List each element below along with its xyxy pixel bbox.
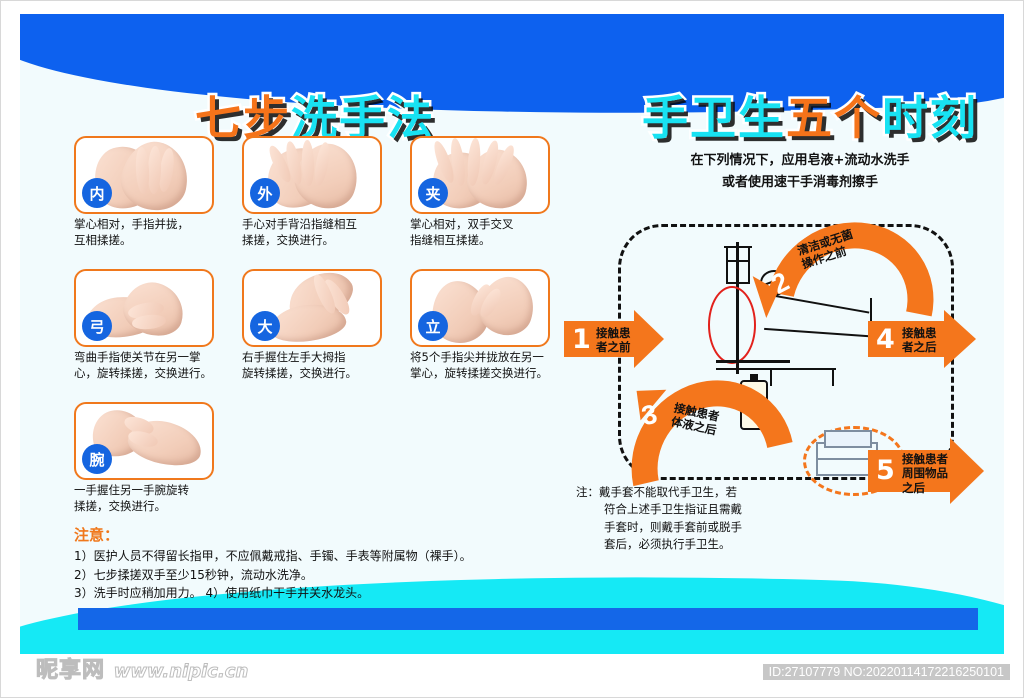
gloves-note-line-3: 手套时，则戴手套前或脱手 [576, 519, 876, 536]
step-badge-1: 内 [82, 178, 112, 208]
step-card-6: 立 将5个手指尖并拢放在另一 掌心，旋转揉搓交换进行。 [410, 269, 552, 381]
moment-label-5: 接触患者 周围物品 之后 [902, 452, 948, 495]
id-tag: ID:27107779 NO:20220114172216250101 [763, 664, 1010, 680]
step-photo-4: 弓 [74, 269, 214, 347]
notice-block: 注意： 1）医护人员不得留长指甲，不应佩戴戒指、手镯、手表等附属物（裸手）。 2… [74, 524, 594, 603]
moments-subtitle-line-1: 在下列情况下，应用皂液+流动水洗手 [620, 150, 980, 172]
step-badge-5: 大 [250, 311, 280, 341]
step-photo-3: 夹 [410, 136, 550, 214]
step-caption-7: 一手握住另一手腕旋转 揉搓，交换进行。 [74, 483, 216, 514]
watermark-logo-text: 昵享网 [36, 658, 105, 683]
step-card-3: 夹 掌心相对，双手交叉 指缝相互揉搓。 [410, 136, 552, 248]
step-card-5: 大 右手握住左手大拇指 旋转揉搓，交换进行。 [242, 269, 384, 381]
gloves-note-line-1: 注：戴手套不能取代手卫生，若 [576, 484, 876, 501]
moment-arrow-3: 3 接触患者 体液之后 [628, 384, 746, 458]
gloves-note: 注：戴手套不能取代手卫生，若 符合上述手卫生指证且需戴 手套时，则戴手套前或脱手… [576, 484, 876, 553]
step-photo-5: 大 [242, 269, 382, 347]
watermark-url: www.nipic.cn [114, 661, 249, 682]
step-caption-2: 手心对手背沿指缝相互 揉搓，交换进行。 [242, 217, 384, 248]
gloves-note-line-2: 符合上述手卫生指证且需戴 [576, 501, 876, 518]
moment-arrow-4: 4 接触患 者之后 [868, 310, 986, 368]
notice-line-2: 2）七步揉搓双手至少15秒钟，流动水洗净。 [74, 566, 594, 585]
step-card-1: 内 掌心相对，手指并拢， 互相揉搓。 [74, 136, 216, 248]
step-badge-3: 夹 [418, 178, 448, 208]
moment-number-4: 4 [876, 326, 895, 353]
step-caption-5: 右手握住左手大拇指 旋转揉搓，交换进行。 [242, 350, 384, 381]
gloves-note-line-4: 套后，必须执行手卫生。 [576, 536, 876, 553]
step-card-2: 外 手心对手背沿指缝相互 揉搓，交换进行。 [242, 136, 384, 248]
step-badge-2: 外 [250, 178, 280, 208]
moments-subtitle: 在下列情况下，应用皂液+流动水洗手 或者使用速干手消毒剂擦手 [620, 150, 980, 194]
step-photo-6: 立 [410, 269, 550, 347]
watermark: 昵享网 www.nipic.cn [36, 652, 248, 684]
step-caption-3: 掌心相对，双手交叉 指缝相互揉搓。 [410, 217, 552, 248]
step-caption-1: 掌心相对，手指并拢， 互相揉搓。 [74, 217, 216, 248]
step-card-7: 腕 一手握住另一手腕旋转 揉搓，交换进行。 [74, 402, 216, 514]
notice-line-3: 3）洗手时应稍加用力。 4）使用纸巾干手并关水龙头。 [74, 584, 594, 603]
step-caption-4: 弯曲手指使关节在另一掌 心，旋转揉搓，交换进行。 [74, 350, 216, 381]
moment-arrow-2: 2 清洁或无菌 操作之前 [765, 224, 883, 298]
five-moments-panel: 在下列情况下，应用皂液+流动水洗手 或者使用速干手消毒剂擦手 [560, 132, 1004, 552]
step-photo-7: 腕 [74, 402, 214, 480]
moment-label-1: 接触患 者之前 [596, 326, 631, 355]
step-photo-1: 内 [74, 136, 214, 214]
step-card-4: 弓 弯曲手指使关节在另一掌 心，旋转揉搓，交换进行。 [74, 269, 216, 381]
step-badge-7: 腕 [82, 444, 112, 474]
notice-title: 注意： [74, 524, 594, 545]
moment-arrow-5: 5 接触患者 周围物品 之后 [868, 438, 998, 504]
step-badge-6: 立 [418, 311, 448, 341]
moment-number-5: 5 [876, 457, 895, 484]
moment-arrow-1: 1 接触患 者之前 [564, 310, 672, 368]
poster-root: 七步洗手法 手卫生五个时刻 内 掌心相对，手指并拢， 互相揉搓。 [0, 0, 1024, 698]
step-badge-4: 弓 [82, 311, 112, 341]
footer-blue-bar [78, 608, 978, 630]
step-caption-6: 将5个手指尖并拢放在另一 掌心，旋转揉搓交换进行。 [410, 350, 552, 381]
moments-subtitle-line-2: 或者使用速干手消毒剂擦手 [620, 172, 980, 194]
moment-number-1: 1 [572, 326, 591, 353]
notice-line-1: 1）医护人员不得留长指甲，不应佩戴戒指、手镯、手表等附属物（裸手）。 [74, 547, 594, 566]
step-photo-2: 外 [242, 136, 382, 214]
moment-label-4: 接触患 者之后 [902, 326, 937, 355]
poster-board: 七步洗手法 手卫生五个时刻 内 掌心相对，手指并拢， 互相揉搓。 [20, 14, 1004, 654]
